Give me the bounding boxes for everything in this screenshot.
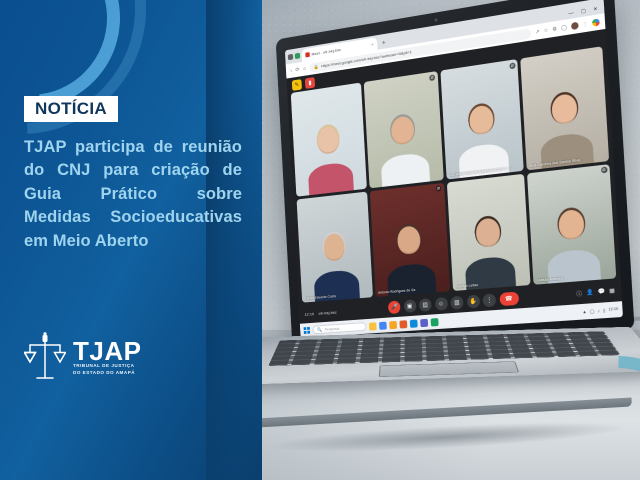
participant-head <box>558 209 585 240</box>
notes-app-icon[interactable]: ✎ <box>292 79 302 91</box>
profile-avatar[interactable] <box>571 22 579 30</box>
meet-right-actions: ⓘ 👤 💬 ▦ <box>576 287 615 298</box>
close-window-button[interactable]: ✕ <box>593 7 598 13</box>
participant-head <box>469 104 494 135</box>
video-tile[interactable]: Carlos Eduardo Costa <box>297 191 373 303</box>
news-badge: NOTÍCIA <box>24 96 118 122</box>
extensions-icon[interactable]: ⚙ <box>552 26 557 33</box>
system-tray: ▲ ◯ ♪ ▯ 12:10 <box>582 307 618 315</box>
participant-muted-icon: Ø <box>429 74 435 81</box>
trackpad <box>379 361 519 376</box>
keyboard <box>269 331 621 366</box>
participant-torso <box>381 151 430 187</box>
participant-figure <box>382 113 426 187</box>
webcam-icon <box>434 18 437 21</box>
participant-muted-icon: Ø <box>600 167 607 174</box>
chevron-up-icon[interactable]: ▲ <box>582 309 586 314</box>
maximize-button[interactable]: ▢ <box>581 9 586 15</box>
people-icon[interactable]: 👤 <box>586 290 594 297</box>
participant-figure <box>315 232 357 303</box>
taskbar-clock[interactable]: 12:10 <box>608 307 618 312</box>
video-tile[interactable]: Ana Carolina dos Santos Silva <box>520 46 609 170</box>
tab-search-icon[interactable] <box>288 54 294 60</box>
laptop-lid: Meet - ofr-bej-bsc × + — ▢ ✕ ‹ ⟳ ⌂ <box>276 0 635 350</box>
participant-head <box>317 125 340 155</box>
new-tab-button[interactable]: + <box>379 39 389 47</box>
participant-head <box>397 225 421 255</box>
participant-figure <box>309 124 351 196</box>
network-icon[interactable]: ◯ <box>590 308 595 314</box>
activities-icon[interactable]: ▦ <box>609 288 615 295</box>
record-app-icon[interactable]: ▮ <box>305 77 315 89</box>
news-content: NOTÍCIA TJAP participa de reunião do CNJ… <box>24 96 242 253</box>
scales-of-justice-icon <box>24 332 66 384</box>
minimize-button[interactable]: — <box>568 11 574 17</box>
meeting-code: ofr-bej-bsc <box>318 309 337 315</box>
back-icon[interactable]: ‹ <box>290 68 292 74</box>
present-screen-button[interactable]: ▥ <box>450 296 463 310</box>
home-icon[interactable]: ⌂ <box>303 66 306 72</box>
video-tile[interactable] <box>291 83 367 197</box>
tjap-logo: TJAP TRIBUNAL DE JUSTIÇA DO ESTADO DO AM… <box>24 332 141 384</box>
camera-button[interactable]: ▣ <box>403 299 416 313</box>
reload-icon[interactable]: ⟳ <box>295 67 299 73</box>
google-meet-app: ✎ ▮ ØLUCIANA CRISTINA ARAUJO DE O. L...Ø… <box>286 29 623 338</box>
more-options-button[interactable]: ⋮ <box>483 293 497 307</box>
tjap-brand: TJAP <box>73 339 141 364</box>
captions-button[interactable]: ▤ <box>419 298 432 312</box>
participant-head <box>551 92 577 124</box>
news-banner: Meet - ofr-bej-bsc × + — ▢ ✕ ‹ ⟳ ⌂ <box>0 0 640 480</box>
news-headline: TJAP participa de reunião do CNJ para cr… <box>24 136 242 253</box>
tjap-logo-text: TJAP TRIBUNAL DE JUSTIÇA DO ESTADO DO AM… <box>73 339 141 377</box>
participant-muted-icon: Ø <box>509 62 515 69</box>
battery-icon[interactable]: ▯ <box>603 308 606 313</box>
emoji-button[interactable]: ☺ <box>434 297 447 311</box>
video-tile[interactable]: LUCIANA CRISTINA ARAUJO DE O. L...Ø <box>440 59 524 179</box>
participant-head <box>475 217 500 248</box>
chat-icon[interactable]: 💬 <box>598 289 606 296</box>
menu-icon[interactable]: ⋮ <box>583 21 589 28</box>
split-icon[interactable]: ◯ <box>561 24 567 31</box>
microphone-muted-button[interactable]: 🎤 <box>388 301 401 315</box>
video-tile[interactable]: Ø <box>363 71 443 188</box>
tab-group-icon[interactable] <box>295 53 301 60</box>
volume-icon[interactable]: ♪ <box>597 308 599 313</box>
meeting-details-icon[interactable]: ⓘ <box>576 289 582 298</box>
meet-favicon <box>305 52 310 57</box>
participant-torso <box>307 161 353 196</box>
participant-head <box>323 233 346 262</box>
browser-tab-title: Meet - ofr-bej-bsc <box>311 47 341 57</box>
google-apps-icon[interactable] <box>592 18 600 26</box>
video-tile[interactable]: Rodrigo Leitao <box>446 173 530 291</box>
tjap-subtitle-line2: DO ESTADO DO AMAPÁ <box>73 370 141 377</box>
video-tile[interactable]: Antonio Rodrigues de SaØ <box>370 182 450 297</box>
end-call-button[interactable]: ☎ <box>499 292 519 307</box>
participant-head <box>391 115 415 145</box>
news-panel: NOTÍCIA TJAP participa de reunião do CNJ… <box>0 0 262 480</box>
laptop-screen: Meet - ofr-bej-bsc × + — ▢ ✕ ‹ ⟳ ⌂ <box>285 0 623 338</box>
raise-hand-button[interactable]: ✋ <box>466 295 480 309</box>
lock-icon: 🔒 <box>314 64 319 70</box>
share-icon[interactable]: ↗ <box>535 28 540 35</box>
video-tile[interactable]: Larissa AntunesØ <box>527 164 616 285</box>
tab-close-icon[interactable]: × <box>371 42 373 47</box>
bookmark-star-icon[interactable]: ☆ <box>543 27 548 34</box>
meeting-time: 12:10 <box>304 311 314 316</box>
